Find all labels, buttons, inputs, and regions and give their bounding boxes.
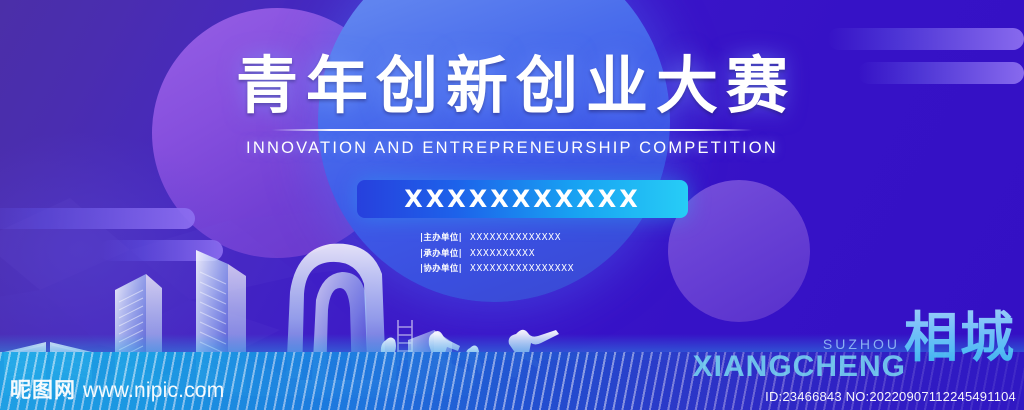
brand-chinese-name: 相城 [904,293,1016,372]
decorative-bar-top-right-1 [828,28,1024,50]
event-name-text: XXXXXXXXXXX [404,185,641,213]
organizer-value: XXXXXXXXXX [470,248,535,259]
watermark-chinese: 昵图网 [10,374,76,404]
decorative-circle-purple-right [668,180,810,322]
title-divider-rule [272,129,752,131]
watermark: 昵图网 www.nipic.com [10,374,224,404]
title-english: INNOVATION AND ENTREPRENEURSHIP COMPETIT… [0,139,1024,158]
title-block: 青年创新创业大赛 INNOVATION AND ENTREPRENEURSHIP… [0,55,1024,158]
poster-canvas: 青年创新创业大赛 INNOVATION AND ENTREPRENEURSHIP… [0,0,1024,410]
brand-id-line: ID:23466843 NO:20220907112245491104 [765,389,1016,404]
organizer-value: XXXXXXXXXXXXXX [470,232,561,243]
watermark-url: www.nipic.com [83,379,224,403]
brand-xiangcheng-label: XIANGCHENG [693,350,906,384]
title-chinese: 青年创新创业大赛 [0,55,1024,117]
organizer-value: XXXXXXXXXXXXXXXX [470,263,574,274]
event-name-bar: XXXXXXXXXXX [357,180,688,218]
